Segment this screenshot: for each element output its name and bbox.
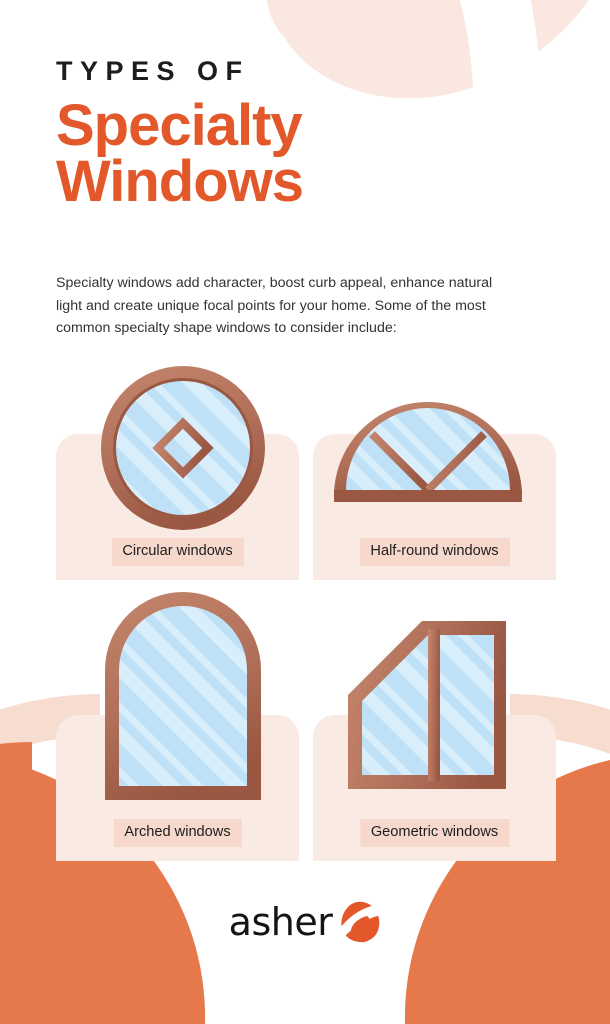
page-title-line-2: Windows [56, 154, 556, 210]
intro-paragraph: Specialty windows add character, boost c… [56, 272, 518, 340]
card-label-arched: Arched windows [113, 819, 241, 847]
arched-window-illustration [99, 592, 267, 804]
infographic-page: TYPES OF Specialty Windows Specialty win… [0, 0, 610, 1024]
eyebrow-text: TYPES OF [56, 58, 556, 85]
card-label-geometric: Geometric windows [360, 819, 509, 847]
footer-disc-left [0, 742, 32, 1024]
card-label-half-round: Half-round windows [359, 538, 509, 566]
half-round-sill [334, 490, 522, 502]
header-block: TYPES OF Specialty Windows [56, 58, 556, 209]
brand-wordmark: asher [229, 903, 333, 941]
geometric-window-illustration [344, 617, 510, 793]
card-label-circular: Circular windows [111, 538, 243, 566]
page-title: Specialty Windows [56, 98, 556, 209]
circular-window-illustration [98, 363, 268, 533]
brand-logo[interactable]: asher [229, 900, 382, 944]
half-round-window-illustration [330, 392, 526, 504]
leaf-droplet-icon [339, 900, 381, 944]
geom-center-mullion [428, 629, 440, 781]
geom-glass-right [440, 635, 494, 775]
